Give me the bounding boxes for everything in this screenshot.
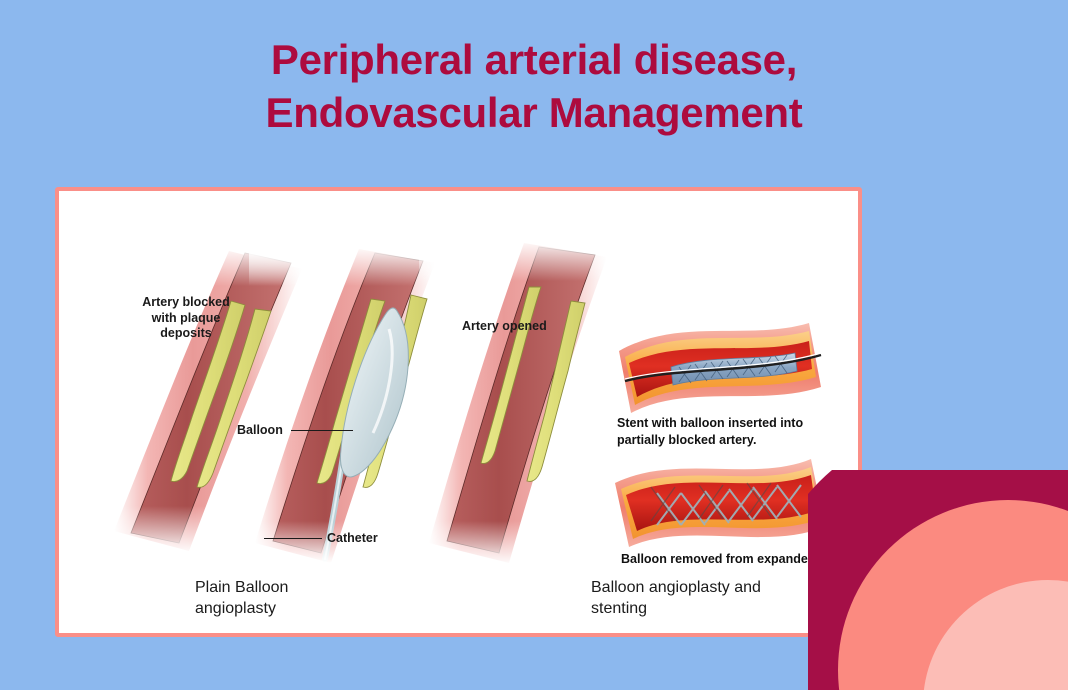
corner-arc-inner bbox=[923, 580, 1068, 690]
caption-stent-inserted: Stent with balloon inserted into partial… bbox=[617, 415, 847, 448]
page-title: Peripheral arterial disease, Endovascula… bbox=[0, 34, 1068, 139]
angioplasty-diagram-svg bbox=[59, 191, 862, 637]
caption-plain-balloon-angioplasty: Plain Balloon angioplasty bbox=[195, 578, 288, 620]
caption-balloon-angioplasty-stenting: Balloon angioplasty and stenting bbox=[591, 578, 761, 620]
medical-illustration: Artery blocked with plaque deposits Ball… bbox=[59, 191, 858, 633]
page-title-line-1: Peripheral arterial disease, bbox=[150, 34, 918, 87]
caption-balloon-removed: Balloon removed from expanded stent. bbox=[621, 551, 861, 568]
label-artery-opened: Artery opened bbox=[462, 319, 547, 335]
balloon-leader-line bbox=[291, 430, 353, 431]
page-title-line-2: Endovascular Management bbox=[150, 87, 918, 140]
corner-arc-mid bbox=[838, 500, 1068, 690]
illustration-artery-opened bbox=[419, 239, 619, 565]
catheter-leader-line bbox=[264, 538, 322, 539]
illustration-stent-inserted bbox=[619, 323, 821, 413]
illustration-expanded-stent bbox=[615, 459, 825, 547]
label-catheter: Catheter bbox=[327, 531, 378, 547]
figure-card: Artery blocked with plaque deposits Ball… bbox=[55, 187, 862, 637]
label-balloon: Balloon bbox=[237, 423, 283, 439]
label-artery-blocked: Artery blocked with plaque deposits bbox=[131, 295, 241, 342]
